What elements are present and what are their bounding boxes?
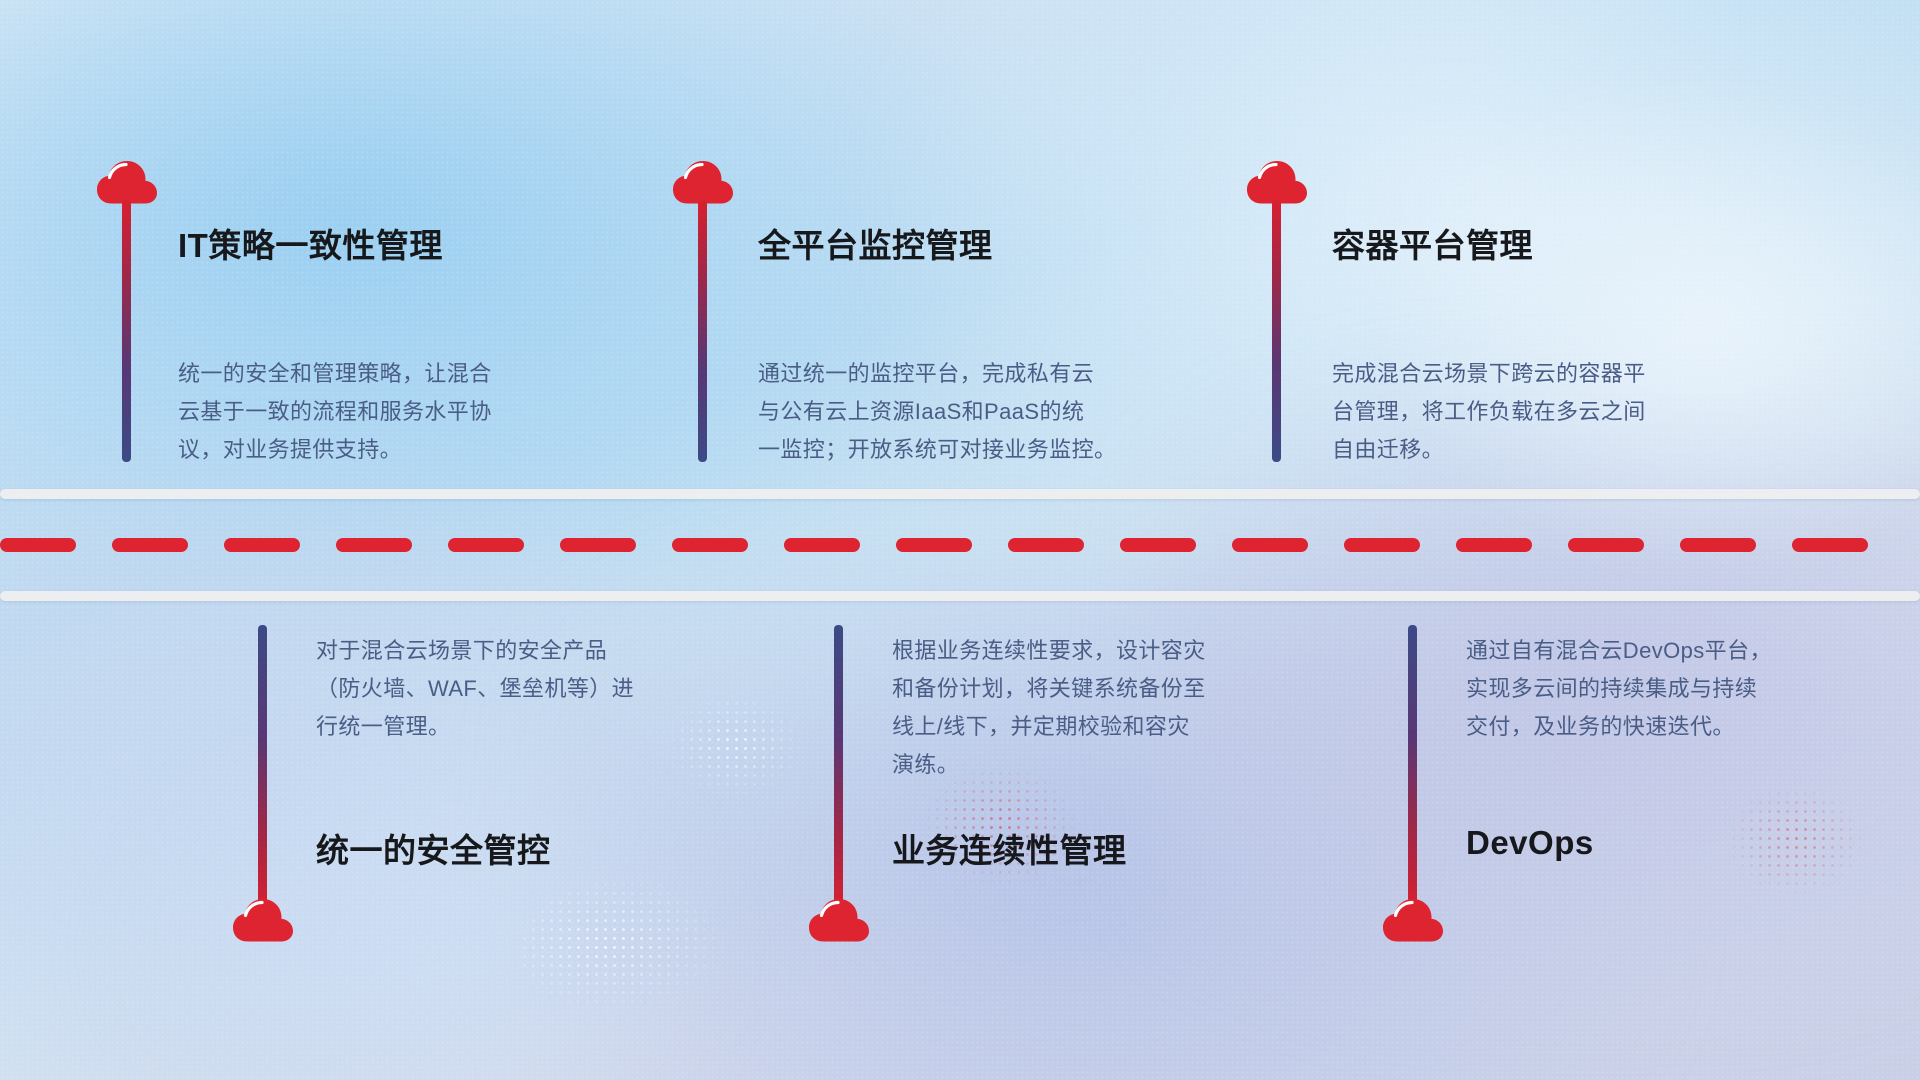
stem-line [122,200,131,462]
road-dash [1680,538,1756,552]
road-dash [1232,538,1308,552]
road-dash [672,538,748,552]
road-dash [1008,538,1084,552]
road-dash [896,538,972,552]
card-heading: IT策略一致性管理 [178,219,443,267]
card-heading: 容器平台管理 [1332,219,1533,267]
cloud-icon [96,160,158,204]
cloud-icon [808,898,870,942]
card-body: 通过统一的监控平台，完成私有云 与公有云上资源IaaS和PaaS的统 一监控；开… [758,355,1228,469]
cloud-icon [232,898,294,942]
road-line-top [0,489,1920,499]
stem-line [698,200,707,462]
road-dash [224,538,300,552]
road-dash [1344,538,1420,552]
stem-line [258,625,267,911]
dot-cluster-white-2 [520,880,740,1020]
road-dash [336,538,412,552]
road-dash [1568,538,1644,552]
road-dash [560,538,636,552]
dot-cluster-red-2 [1720,780,1870,900]
card-body: 完成混合云场景下跨云的容器平 台管理，将工作负载在多云之间 自由迁移。 [1332,355,1772,469]
card-heading: DevOps [1466,824,1594,862]
card-heading: 业务连续性管理 [892,824,1127,872]
road-line-bottom [0,591,1920,601]
card-body: 对于混合云场景下的安全产品 （防火墙、WAF、堡垒机等）进 行统一管理。 [316,632,746,746]
card-heading: 全平台监控管理 [758,219,993,267]
road-divider [0,489,1920,601]
stem-line [1272,200,1281,462]
road-dash [0,538,76,552]
cloud-icon [1246,160,1308,204]
card-body: 根据业务连续性要求，设计容灾 和备份计划，将关键系统备份至 线上/线下，并定期校… [892,632,1322,784]
road-dash [448,538,524,552]
card-body: 通过自有混合云DevOps平台， 实现多云间的持续集成与持续 交付，及业务的快速… [1466,632,1886,746]
road-dash [1456,538,1532,552]
cloud-icon [672,160,734,204]
road-dash [1792,538,1868,552]
road-dash [1120,538,1196,552]
road-dash [784,538,860,552]
card-heading: 统一的安全管控 [316,824,551,872]
cloud-icon [1382,898,1444,942]
road-dash-row [0,538,1920,552]
road-dash [112,538,188,552]
stem-line [1408,625,1417,911]
stem-line [834,625,843,911]
card-body: 统一的安全和管理策略，让混合 云基于一致的流程和服务水平协 议，对业务提供支持。 [178,355,618,469]
